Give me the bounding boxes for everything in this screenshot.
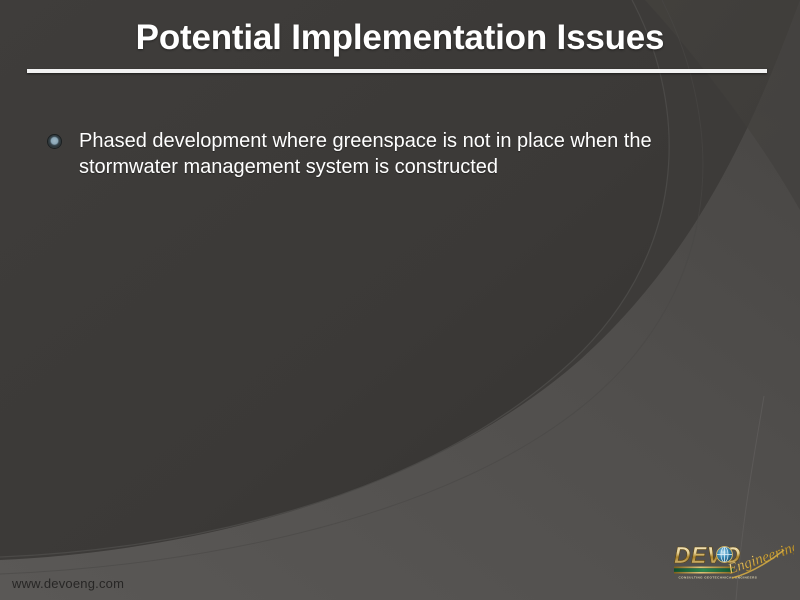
background-arc-light (0, 0, 800, 600)
title-block: Potential Implementation Issues (0, 16, 800, 60)
background-arc-hairline-secondary (0, 0, 703, 574)
list-item: Phased development where greenspace is n… (48, 128, 748, 180)
background-arc-dark (0, 0, 669, 557)
logo-bar-gold-bottom (674, 572, 733, 574)
title-underline-rule (27, 69, 767, 73)
body-content: Phased development where greenspace is n… (48, 128, 748, 180)
target-bullet-icon (48, 135, 61, 148)
presentation-slide: Potential Implementation Issues Phased d… (0, 0, 800, 600)
background-arc-hairline (0, 0, 669, 557)
logo-bar-gold-top (674, 567, 733, 569)
devo-engineering-logo: DEVO CONSULTING GEOTECHNICAL ENGINEERS E… (672, 538, 794, 588)
bullet-text: Phased development where greenspace is n… (79, 128, 748, 180)
logo-tagline: CONSULTING GEOTECHNICAL ENGINEERS (679, 576, 758, 580)
background-decoration (0, 0, 800, 600)
slide-title: Potential Implementation Issues (0, 16, 800, 60)
logo-bar-green (674, 568, 733, 571)
website-url: www.devoeng.com (12, 576, 124, 591)
